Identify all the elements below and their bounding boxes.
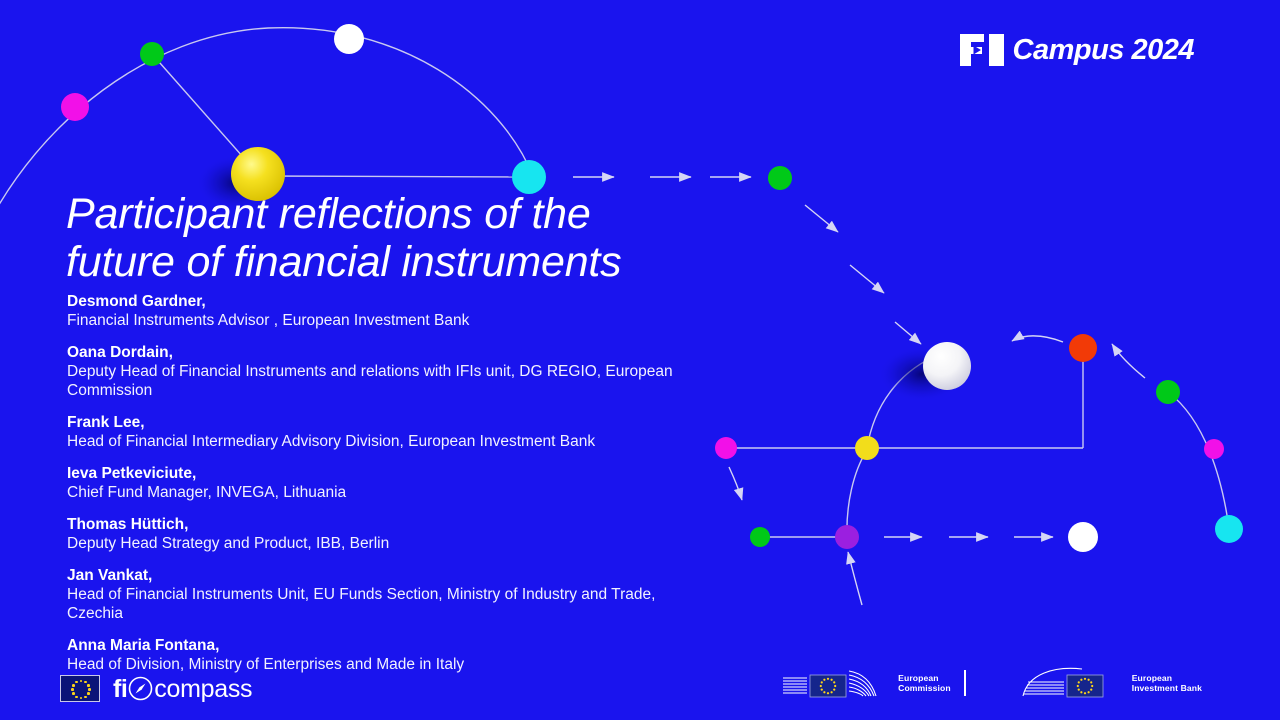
node-green-4 (750, 527, 770, 547)
ec-emblem-icon (781, 666, 891, 700)
slide-canvas: Participant reflections of the future of… (0, 0, 1280, 720)
list-item: Oana Dordain, Deputy Head of Financial I… (67, 343, 717, 400)
eu-star (84, 681, 87, 684)
node-magenta (61, 93, 89, 121)
node-green-3 (1156, 380, 1180, 404)
eib-label-line1: European (1132, 673, 1202, 684)
eu-star (1090, 689, 1092, 691)
speaker-role: Chief Fund Manager, INVEGA, Lithuania (67, 483, 687, 502)
eu-star (87, 692, 90, 695)
node-green (140, 42, 164, 66)
list-item: Desmond Gardner, Financial Instruments A… (67, 292, 717, 330)
eu-star (1087, 679, 1089, 681)
speaker-role: Head of Division, Ministry of Enterprise… (67, 655, 687, 674)
speaker-role: Deputy Head of Financial Instruments and… (67, 362, 687, 400)
eu-star (80, 697, 83, 700)
speaker-role: Head of Financial Intermediary Advisory … (67, 432, 687, 451)
european-commission-logo: European Commission (781, 666, 966, 700)
list-item: Thomas Hüttich, Deputy Head Strategy and… (67, 515, 717, 553)
node-cyan (512, 160, 546, 194)
eu-star (1084, 692, 1086, 694)
ficompass-fi-text: fi (113, 676, 127, 702)
node-purple (835, 525, 859, 549)
eu-star (821, 689, 823, 691)
node-magenta-3 (715, 437, 737, 459)
list-item: Jan Vankat, Head of Financial Instrument… (67, 566, 717, 623)
ficompass-wordmark: fi compass (113, 676, 252, 702)
node-white (334, 24, 364, 54)
node-red (1069, 334, 1097, 362)
sphere-white (923, 342, 971, 390)
eu-star (72, 692, 75, 695)
eu-star (1077, 681, 1079, 683)
european-investment-bank-logo: European Investment Bank (1020, 666, 1202, 700)
speaker-name: Jan Vankat, (67, 566, 717, 585)
eib-label-line2: Investment Bank (1132, 683, 1202, 694)
sphere-shadow-white (878, 346, 966, 402)
eib-emblem-icon (1020, 666, 1125, 700)
institutional-logos: European Commission European Investment … (781, 666, 1202, 700)
node-magenta-2 (1204, 439, 1224, 459)
ficompass-compass-text: compass (154, 676, 252, 702)
list-item: Ieva Petkeviciute, Chief Fund Manager, I… (67, 464, 717, 502)
speaker-role: Deputy Head Strategy and Product, IBB, B… (67, 534, 687, 553)
eu-star (1080, 691, 1082, 693)
eu-star (87, 684, 90, 687)
eu-star (821, 681, 823, 683)
node-green-2 (768, 166, 792, 190)
list-item: Frank Lee, Head of Financial Intermediar… (67, 413, 717, 451)
fi-campus-text: Campus 2024 (1013, 35, 1195, 65)
compass-rose-icon (128, 676, 153, 701)
eu-star (1090, 681, 1092, 683)
ec-label: European Commission (898, 673, 951, 694)
eu-star (831, 679, 833, 681)
eu-star (831, 691, 833, 693)
eu-star (80, 680, 83, 683)
node-yellow-small (855, 436, 879, 460)
eu-star (72, 684, 75, 687)
speaker-name: Desmond Gardner, (67, 292, 717, 311)
eu-star (84, 696, 87, 699)
speaker-name: Ieva Petkeviciute, (67, 464, 717, 483)
title-line-1: Participant reflections of the (66, 190, 706, 238)
node-cyan-2 (1215, 515, 1243, 543)
fi-play-mark-icon (958, 31, 1008, 69)
eu-flag-icon (60, 675, 100, 702)
speaker-name: Frank Lee, (67, 413, 717, 432)
eu-star (1084, 678, 1086, 680)
eu-star (827, 678, 829, 680)
logo-divider (964, 670, 966, 696)
ec-label-line1: European (898, 673, 951, 684)
eu-star (833, 681, 835, 683)
eu-star (1091, 685, 1093, 687)
eu-star (823, 679, 825, 681)
eu-star (820, 685, 822, 687)
eu-star (1076, 685, 1078, 687)
eu-star (88, 688, 91, 691)
eu-star (823, 691, 825, 693)
eu-star (1087, 691, 1089, 693)
speaker-name: Anna Maria Fontana, (67, 636, 717, 655)
speaker-role: Head of Financial Instruments Unit, EU F… (67, 585, 687, 623)
fi-campus-logo: Campus 2024 (958, 30, 1195, 70)
node-white-2 (1068, 522, 1098, 552)
ec-label-line2: Commission (898, 683, 951, 694)
speaker-name: Thomas Hüttich, (67, 515, 717, 534)
ficompass-logo: fi compass (60, 675, 252, 702)
speaker-name: Oana Dordain, (67, 343, 717, 362)
list-item: Anna Maria Fontana, Head of Division, Mi… (67, 636, 717, 674)
eu-star (834, 685, 836, 687)
eu-star (71, 688, 74, 691)
eu-star (827, 692, 829, 694)
speaker-role: Financial Instruments Advisor , European… (67, 311, 687, 330)
eu-star (833, 689, 835, 691)
speaker-list: Desmond Gardner, Financial Instruments A… (67, 292, 717, 687)
eu-star (75, 696, 78, 699)
eib-label: European Investment Bank (1132, 673, 1202, 694)
eu-star (75, 681, 78, 684)
eu-star (1077, 689, 1079, 691)
eu-star (1080, 679, 1082, 681)
page-title: Participant reflections of the future of… (66, 190, 706, 286)
title-line-2: future of financial instruments (66, 238, 706, 286)
